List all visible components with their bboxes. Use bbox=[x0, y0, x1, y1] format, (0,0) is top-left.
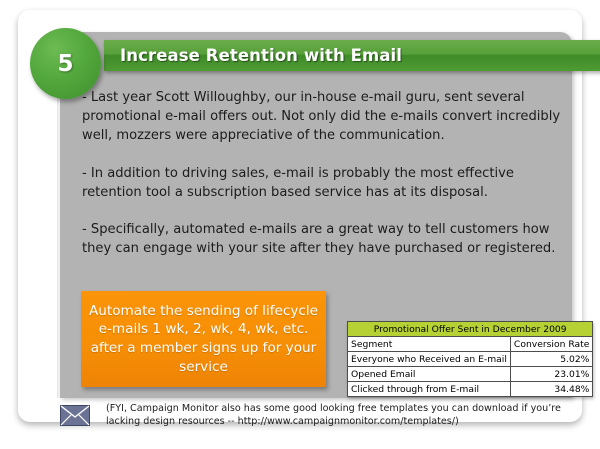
paragraph-3: - Specifically, automated e-mails are a … bbox=[82, 220, 564, 258]
cell-rate: 5.02% bbox=[510, 352, 593, 367]
footer-line-2: lacking design resources -- http://www.c… bbox=[106, 416, 459, 427]
envelope-icon bbox=[60, 405, 90, 426]
footer-line-1: (FYI, Campaign Monitor also has some goo… bbox=[106, 403, 561, 414]
step-number-label: 5 bbox=[57, 51, 73, 77]
column-header-segment: Segment bbox=[348, 337, 511, 352]
body-copy: - Last year Scott Willoughby, our in-hou… bbox=[82, 88, 564, 276]
cell-rate: 34.48% bbox=[510, 382, 593, 397]
slide-card: Increase Retention with Email 5 - Last y… bbox=[18, 10, 582, 422]
cell-segment: Opened Email bbox=[348, 367, 511, 382]
footer-note-block: (FYI, Campaign Monitor also has some goo… bbox=[60, 403, 572, 428]
cell-segment: Clicked through from E-mail bbox=[348, 382, 511, 397]
table-row: Clicked through from E-mail 34.48% bbox=[348, 382, 593, 397]
callout-text: Automate the sending of lifecycle e-mail… bbox=[87, 302, 320, 376]
table-title: Promotional Offer Sent in December 2009 bbox=[348, 322, 593, 337]
column-header-conversion-rate: Conversion Rate bbox=[510, 337, 593, 352]
slide-title-bar: Increase Retention with Email bbox=[104, 40, 600, 71]
table-header-row: Segment Conversion Rate bbox=[348, 337, 593, 352]
cell-segment: Everyone who Received an E-mail bbox=[348, 352, 511, 367]
footer-note-text: (FYI, Campaign Monitor also has some goo… bbox=[106, 403, 572, 428]
cell-rate: 23.01% bbox=[510, 367, 593, 382]
page-title: Increase Retention with Email bbox=[120, 46, 402, 65]
paragraph-1: - Last year Scott Willoughby, our in-hou… bbox=[82, 88, 564, 146]
conversion-rate-table: Promotional Offer Sent in December 2009 … bbox=[347, 321, 593, 397]
paragraph-2: - In addition to driving sales, e-mail i… bbox=[82, 164, 564, 202]
table-title-row: Promotional Offer Sent in December 2009 bbox=[348, 322, 593, 337]
table-row: Everyone who Received an E-mail 5.02% bbox=[348, 352, 593, 367]
table-row: Opened Email 23.01% bbox=[348, 367, 593, 382]
orange-callout-box: Automate the sending of lifecycle e-mail… bbox=[81, 291, 326, 387]
